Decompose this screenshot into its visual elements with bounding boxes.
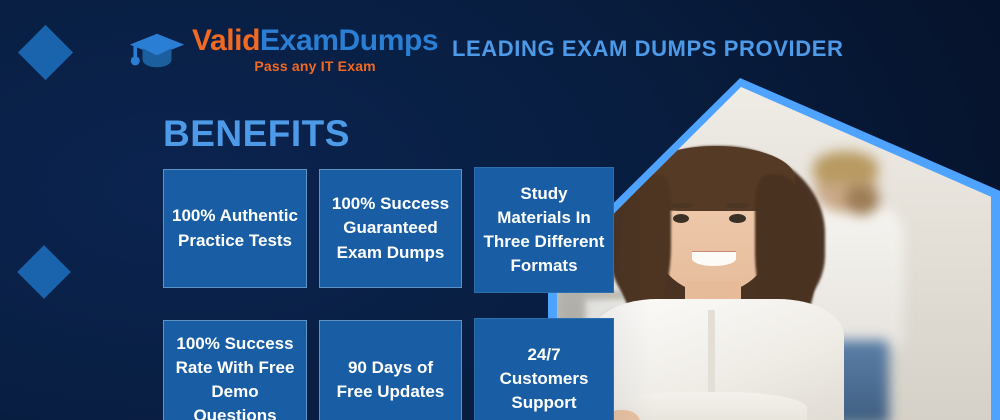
- section-title: BENEFITS: [163, 113, 350, 155]
- benefit-card[interactable]: 100% Authentic Practice Tests: [163, 169, 307, 288]
- headline: LEADING EXAM DUMPS PROVIDER: [452, 36, 843, 62]
- benefit-card[interactable]: 24/7 Customers Support: [474, 318, 614, 420]
- benefit-card[interactable]: Study Materials In Three Different Forma…: [474, 167, 614, 293]
- graduation-cap-icon: [128, 28, 186, 72]
- hero-photo: [548, 78, 1000, 420]
- photo-vignette: [557, 87, 991, 420]
- photo-hexagon-image: [557, 87, 991, 420]
- brand-logo[interactable]: ValidExamDumps Pass any IT Exam: [128, 26, 438, 73]
- brand-name-part-2: ExamDumps: [260, 24, 438, 57]
- brand-logo-text: ValidExamDumps Pass any IT Exam: [192, 26, 438, 73]
- benefit-card[interactable]: 100% Success Guaranteed Exam Dumps: [319, 169, 462, 288]
- promo-banner: ValidExamDumps Pass any IT Exam LEADING …: [0, 0, 1000, 420]
- brand-tagline: Pass any IT Exam: [192, 59, 438, 73]
- benefit-card[interactable]: 100% Success Rate With Free Demo Questio…: [163, 320, 307, 420]
- brand-name-part-1: Valid: [192, 24, 260, 57]
- benefit-card[interactable]: 90 Days of Free Updates: [319, 320, 462, 420]
- brand-name: ValidExamDumps: [192, 26, 438, 56]
